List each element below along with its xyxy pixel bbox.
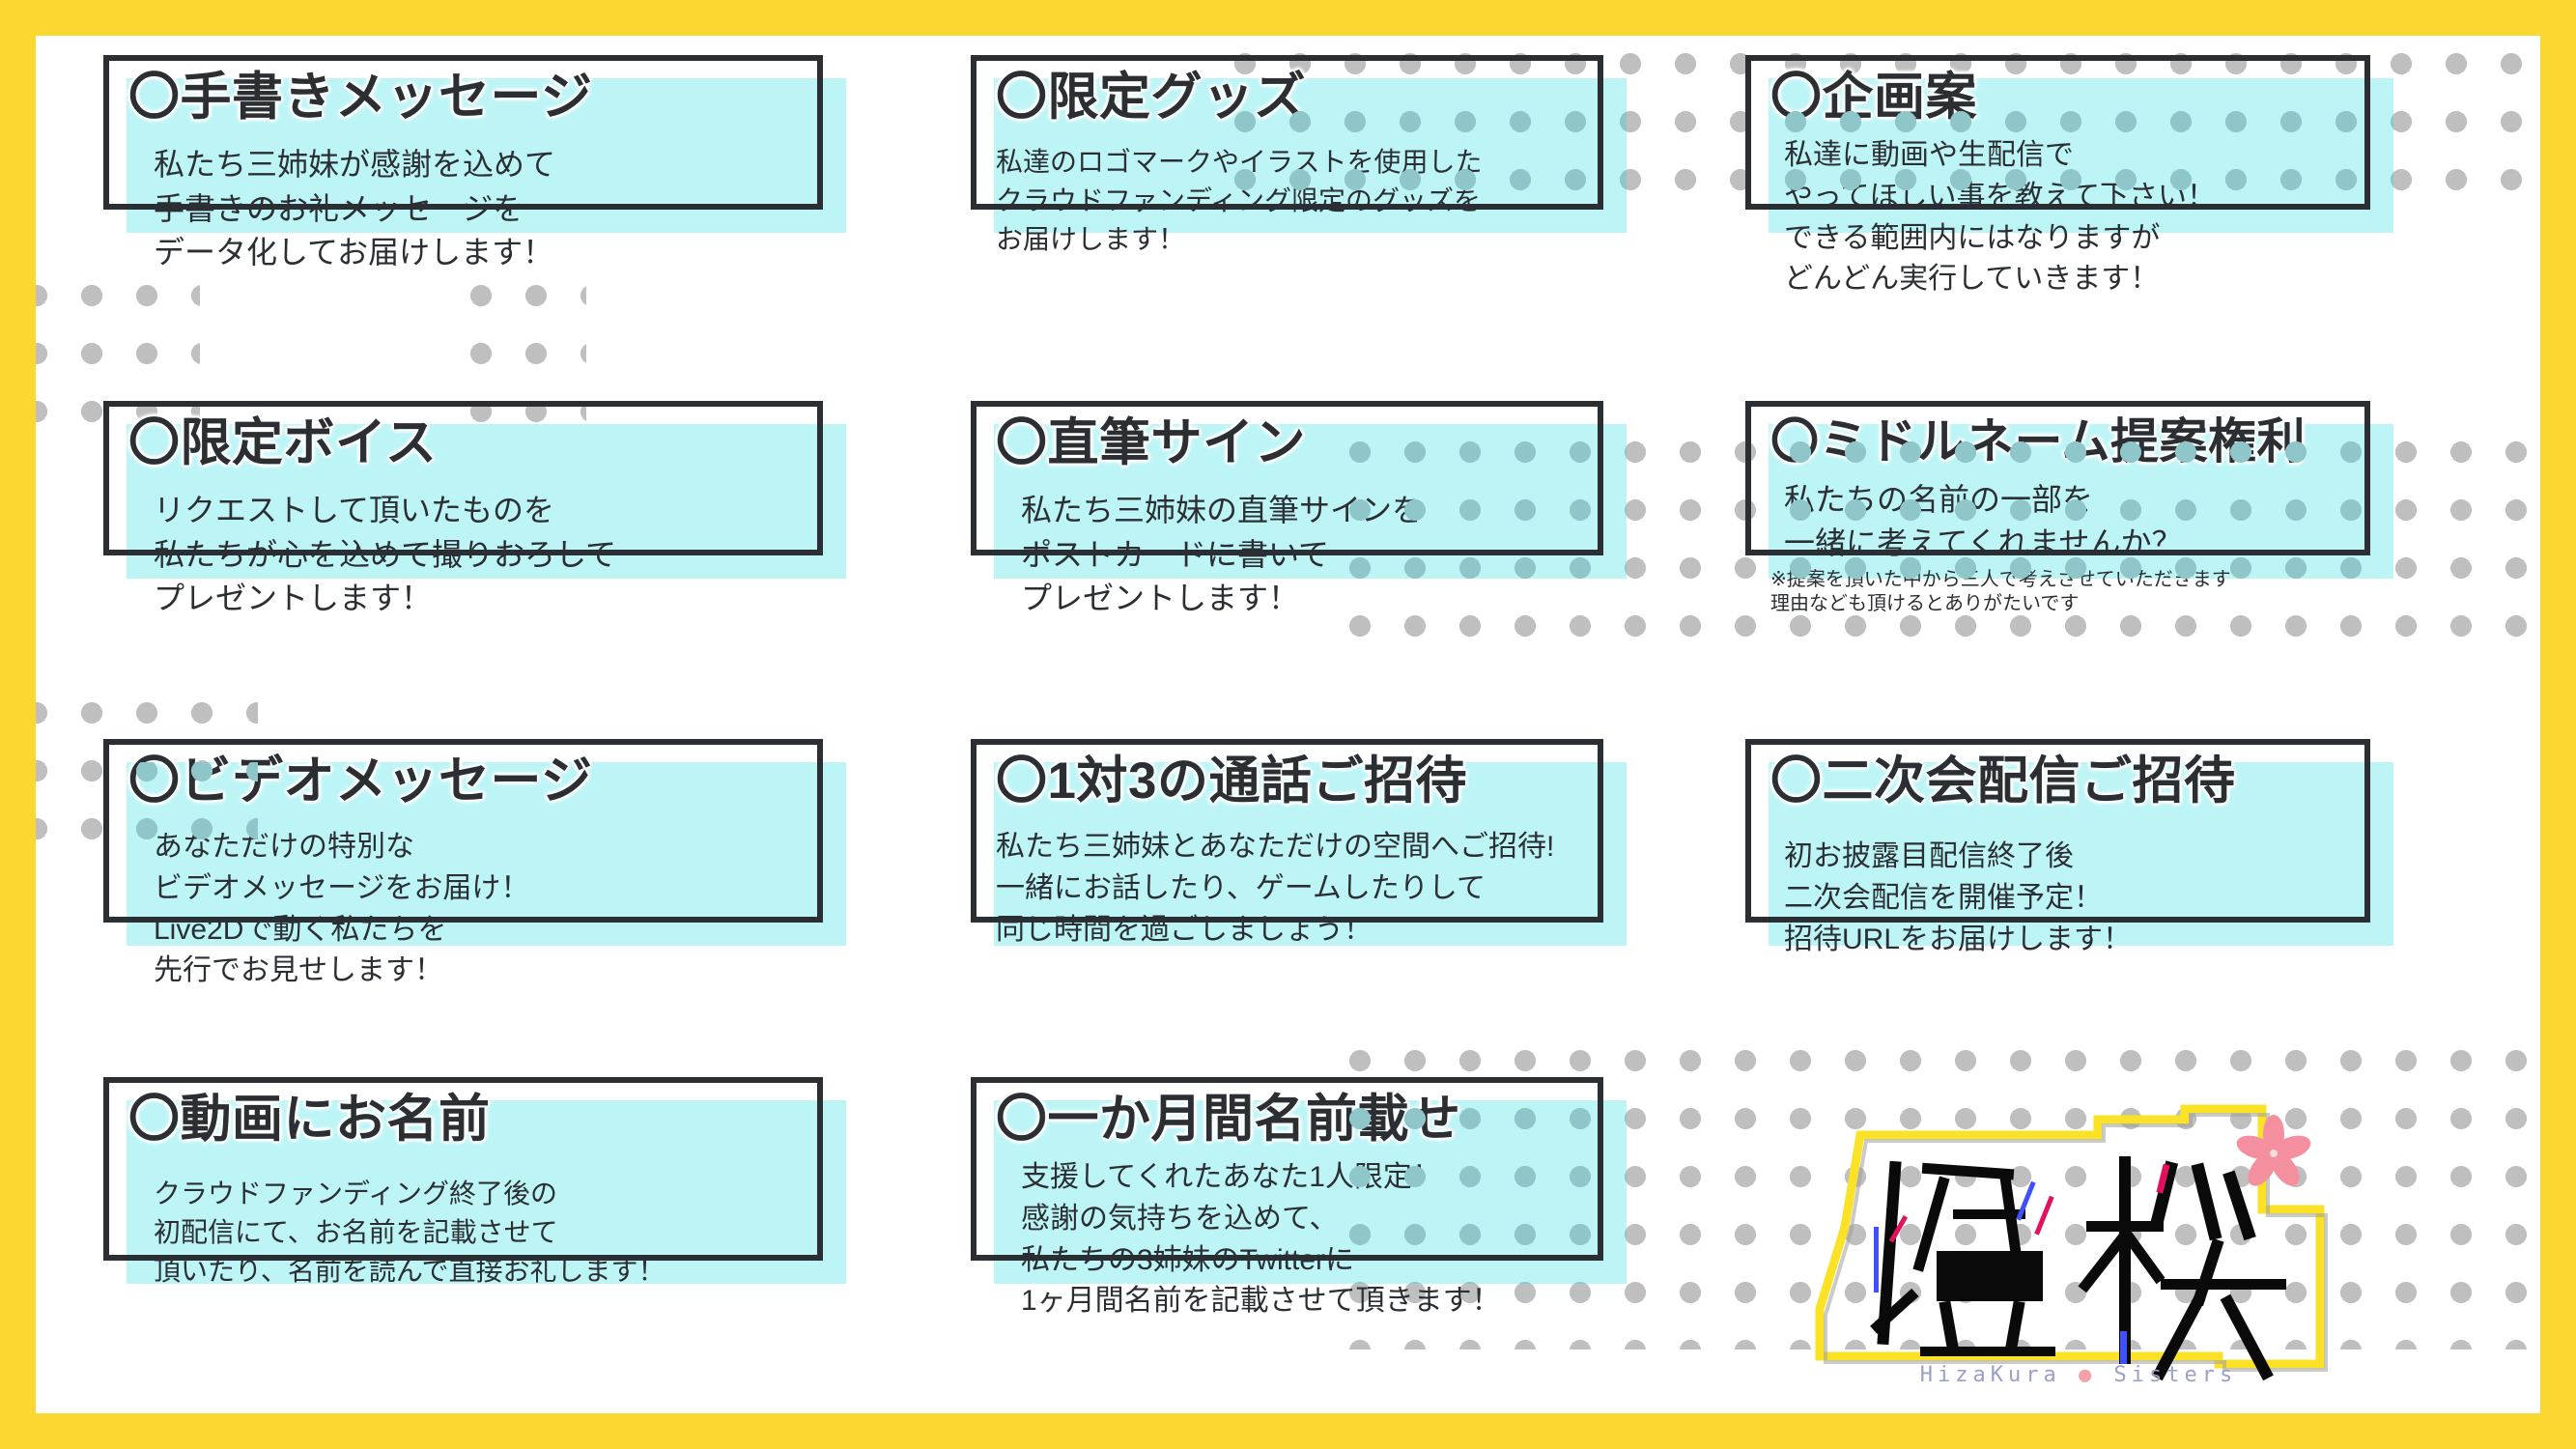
card-body: 〇直筆サイン 私たち三姉妹の直筆サインを ポストカードに書いて プレゼントします… (971, 401, 1603, 555)
card-title: 〇手書きメッセージ (128, 69, 802, 126)
card-description: 私たち三姉妹の直筆サインを ポストカードに書いて プレゼントします！ (996, 489, 1582, 620)
reward-card[interactable]: 〇限定グッズ 私達のロゴマークやイラストを使用した クラウドファンディング限定の… (971, 55, 1603, 210)
bullet-icon: 〇 (1770, 753, 1823, 810)
card-title: 〇企画案 (1770, 69, 2349, 126)
bullet-icon: 〇 (128, 414, 181, 471)
card-description: 初お披露目配信終了後 二次会配信を開催予定！ 招待URLをお届けします！ (1770, 837, 2349, 960)
card-body: 〇限定グッズ 私達のロゴマークやイラストを使用した クラウドファンディング限定の… (971, 55, 1603, 210)
logo-artwork (1779, 1103, 2378, 1393)
card-title: 〇限定グッズ (996, 69, 1582, 126)
card-description: リクエストして頂いたものを 私たちが心を込めて撮りおろして プレゼントします！ (128, 489, 802, 620)
bullet-icon: 〇 (1770, 414, 1820, 469)
card-description: 私たち三姉妹が感謝を込めて 手書きのお礼メッセージを データ化してお届けします！ (128, 143, 802, 274)
reward-card[interactable]: 〇1対3の通話ご招待 私たち三姉妹とあなただけの空間へご招待! 一緒にお話したり… (971, 739, 1603, 923)
kanji-sakura (2079, 1156, 2286, 1380)
card-body: 〇一か月間名前載せ 支援してくれたあなた1人限定！ 感謝の気持ちを込めて、 私た… (971, 1077, 1603, 1261)
card-note: ※提案を頂いた中から三人で考えさせていただきます 理由なども頂けるとありがたいで… (1770, 568, 2349, 616)
reward-card[interactable]: 〇限定ボイス リクエストして頂いたものを 私たちが心を込めて撮りおろして プレゼ… (103, 401, 823, 555)
accent-pink-2 (2034, 1196, 2053, 1236)
logo-romaji-left: HizaKura (1920, 1363, 2061, 1387)
card-title: 〇動画にお名前 (128, 1091, 802, 1148)
reward-card[interactable]: 〇ミドルネーム提案権利 私たちの名前の一部を 一緒に考えてくれませんか？ ※提案… (1745, 401, 2370, 555)
reward-card[interactable]: 〇ビデオメッセージ あなただけの特別な ビデオメッセージをお届け！ Live2D… (103, 739, 823, 923)
card-description: 支援してくれたあなた1人限定！ 感謝の気持ちを込めて、 私たちの3姉妹のTwit… (996, 1157, 1582, 1321)
kanji-hi (1870, 1161, 2055, 1356)
card-body: 〇手書きメッセージ 私たち三姉妹が感謝を込めて 手書きのお礼メッセージを データ… (103, 55, 823, 210)
card-title: 〇一か月間名前載せ (996, 1091, 1582, 1148)
bullet-icon: 〇 (128, 1091, 181, 1148)
card-title: 〇直筆サイン (996, 414, 1582, 471)
card-body: 〇動画にお名前 クラウドファンディング終了後の 初配信にて、お名前を記載させて … (103, 1077, 823, 1261)
poster-canvas: 〇手書きメッセージ 私たち三姉妹が感謝を込めて 手書きのお礼メッセージを データ… (36, 36, 2540, 1413)
card-body: 〇二次会配信ご招待 初お披露目配信終了後 二次会配信を開催予定！ 招待URLをお… (1745, 739, 2370, 923)
sakura-flower-icon (2234, 1115, 2314, 1191)
card-title: 〇1対3の通話ご招待 (996, 753, 1582, 810)
card-body: 〇1対3の通話ご招待 私たち三姉妹とあなただけの空間へご招待! 一緒にお話したり… (971, 739, 1603, 923)
flower-bullet-icon: ● (2079, 1363, 2096, 1387)
logo-subtitle: HizaKura ● Sisters (1779, 1363, 2378, 1387)
card-title: 〇二次会配信ご招待 (1770, 753, 2349, 810)
reward-card[interactable]: 〇企画案 私達に動画や生配信で やってほしい事を教えて下さい！ できる範囲内には… (1745, 55, 2370, 210)
bullet-icon: 〇 (996, 414, 1048, 471)
card-body: 〇限定ボイス リクエストして頂いたものを 私たちが心を込めて撮りおろして プレゼ… (103, 401, 823, 555)
accent-blue-1 (1874, 1227, 1879, 1293)
bullet-icon: 〇 (996, 69, 1048, 126)
logo-romaji-right: Sisters (2114, 1363, 2238, 1387)
card-body: 〇企画案 私達に動画や生配信で やってほしい事を教えて下さい！ できる範囲内には… (1745, 55, 2370, 210)
brand-logo: HizaKura ● Sisters (1779, 1103, 2378, 1393)
bullet-icon: 〇 (1770, 69, 1823, 126)
card-body: 〇ビデオメッセージ あなただけの特別な ビデオメッセージをお届け！ Live2D… (103, 739, 823, 923)
bullet-icon: 〇 (128, 753, 181, 810)
card-title: 〇限定ボイス (128, 414, 802, 471)
card-description: 私達のロゴマークやイラストを使用した クラウドファンディング限定のグッズを お届… (996, 143, 1582, 258)
card-description: クラウドファンディング終了後の 初配信にて、お名前を記載させて 頂いたり、名前を… (128, 1175, 802, 1290)
accent-blue-2 (2016, 1181, 2035, 1221)
card-description: あなただけの特別な ビデオメッセージをお届け！ Live2Dで動く私たちを 先行… (128, 827, 802, 991)
reward-card[interactable]: 〇手書きメッセージ 私たち三姉妹が感謝を込めて 手書きのお礼メッセージを データ… (103, 55, 823, 210)
card-title: 〇ミドルネーム提案権利 (1770, 414, 2349, 469)
bullet-icon: 〇 (128, 69, 181, 126)
card-description: 私達に動画や生配信で やってほしい事を教えて下さい！ できる範囲内にはなりますが… (1770, 135, 2349, 299)
reward-card[interactable]: 〇二次会配信ご招待 初お披露目配信終了後 二次会配信を開催予定！ 招待URLをお… (1745, 739, 2370, 923)
reward-card[interactable]: 〇動画にお名前 クラウドファンディング終了後の 初配信にて、お名前を記載させて … (103, 1077, 823, 1261)
card-title: 〇ビデオメッセージ (128, 753, 802, 810)
bullet-icon: 〇 (996, 1091, 1048, 1148)
accent-blue-3 (2120, 1331, 2127, 1364)
reward-card[interactable]: 〇一か月間名前載せ 支援してくれたあなた1人限定！ 感謝の気持ちを込めて、 私た… (971, 1077, 1603, 1261)
card-body: 〇ミドルネーム提案権利 私たちの名前の一部を 一緒に考えてくれませんか？ ※提案… (1745, 401, 2370, 555)
card-description: 私たちの名前の一部を 一緒に考えてくれませんか？ (1770, 478, 2349, 566)
reward-card[interactable]: 〇直筆サイン 私たち三姉妹の直筆サインを ポストカードに書いて プレゼントします… (971, 401, 1603, 555)
card-description: 私たち三姉妹とあなただけの空間へご招待! 一緒にお話したり、ゲームしたりして 同… (996, 827, 1582, 951)
bullet-icon: 〇 (996, 753, 1048, 810)
